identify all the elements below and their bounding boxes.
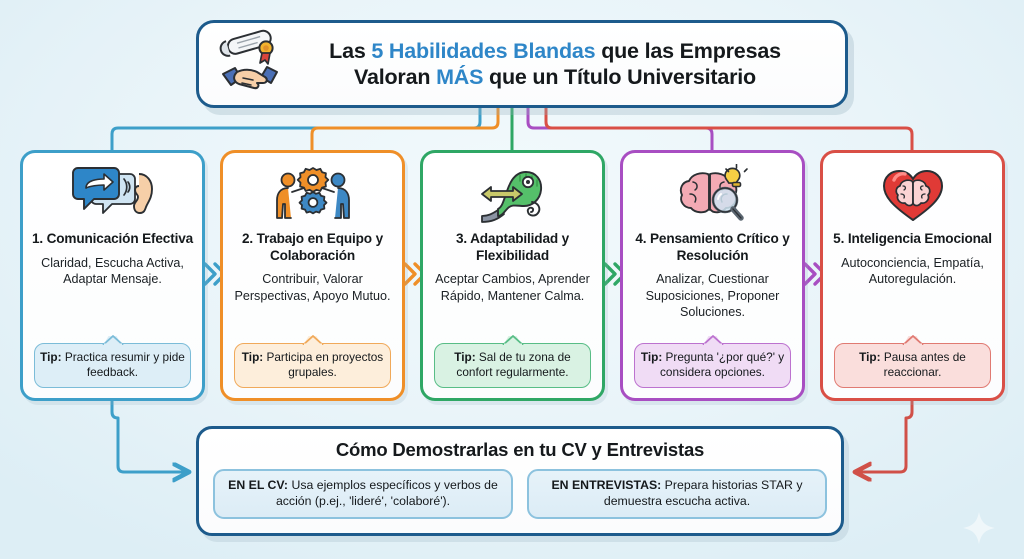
title-line1-pre: Las	[329, 39, 371, 63]
skill-card-tip: Tip: Practica resumir y pide feedback.	[34, 343, 191, 388]
title-line2-highlight: MÁS	[436, 65, 483, 89]
skill-card-description: Autoconciencia, Empatía, Autoregulación.	[830, 255, 995, 288]
tip-text: Pausa antes de reaccionar.	[881, 350, 966, 379]
footer-box-label: EN EL CV:	[228, 478, 288, 492]
tip-label: Tip:	[242, 350, 263, 364]
heart-brain-icon	[868, 164, 958, 226]
tip-notch-icon	[302, 335, 324, 345]
skill-card-title: 5. Inteligencia Emocional	[833, 231, 992, 248]
footer-box-text: Usa ejemplos específicos y verbos de acc…	[276, 478, 498, 508]
skill-card-1[interactable]: 1. Comunicación Efectiva Claridad, Escuc…	[20, 150, 205, 401]
skill-card-description: Aceptar Cambios, Aprender Rápido, Manten…	[430, 271, 595, 304]
footer-box-row: EN EL CV: Usa ejemplos específicos y ver…	[213, 469, 827, 519]
page-title: Las 5 Habilidades Blandas que las Empres…	[287, 38, 829, 90]
tip-notch-icon	[102, 335, 124, 345]
sparkle-icon	[962, 511, 996, 545]
tip-label: Tip:	[454, 350, 475, 364]
diploma-handshake-icon	[213, 28, 287, 100]
skill-card-title: 1. Comunicación Efectiva	[32, 231, 193, 248]
skill-card-3[interactable]: 3. Adaptabilidad y Flexibilidad Aceptar …	[420, 150, 605, 401]
skill-card-description: Claridad, Escucha Activa, Adaptar Mensaj…	[30, 255, 195, 288]
page-title-line2: Valoran MÁS que un Título Universitario	[287, 64, 823, 90]
title-line1-post: que las Empresas	[595, 39, 780, 63]
tip-notch-icon	[502, 335, 524, 345]
tip-text: Pregunta '¿por qué?' y considera opcione…	[660, 350, 784, 379]
header-title-card: Las 5 Habilidades Blandas que las Empres…	[196, 20, 848, 108]
speech-bubble-ear-icon	[68, 164, 158, 226]
title-line2-pre: Valoran	[354, 65, 436, 89]
skill-card-title: 2. Trabajo en Equipo y Colaboración	[230, 231, 395, 264]
page-title-line1: Las 5 Habilidades Blandas que las Empres…	[287, 38, 823, 64]
skill-card-tip: Tip: Pregunta '¿por qué?' y considera op…	[634, 343, 791, 388]
skill-card-tip: Tip: Sal de tu zona de confort regularme…	[434, 343, 591, 388]
footer-box-interviews[interactable]: EN ENTREVISTAS: Prepara historias STAR y…	[527, 469, 827, 519]
skill-card-description: Contribuir, Valorar Perspectivas, Apoyo …	[230, 271, 395, 304]
skill-card-4[interactable]: 4. Pensamiento Crítico y Resolución Anal…	[620, 150, 805, 401]
skill-card-5[interactable]: 5. Inteligencia Emocional Autoconciencia…	[820, 150, 1005, 401]
tip-label: Tip:	[40, 350, 61, 364]
skill-card-tip: Tip: Pausa antes de reaccionar.	[834, 343, 991, 388]
footer-panel: Cómo Demostrarlas en tu CV y Entrevistas…	[196, 426, 844, 536]
tip-label: Tip:	[641, 350, 662, 364]
infographic-canvas: Las 5 Habilidades Blandas que las Empres…	[0, 0, 1024, 559]
tip-text: Participa en proyectos grupales.	[263, 350, 383, 379]
footer-box-cv[interactable]: EN EL CV: Usa ejemplos específicos y ver…	[213, 469, 513, 519]
title-line2-post: que un Título Universitario	[483, 65, 756, 89]
tip-notch-icon	[702, 335, 724, 345]
footer-box-label: EN ENTREVISTAS:	[551, 478, 661, 492]
teamwork-gears-icon	[268, 164, 358, 226]
skill-card-title: 3. Adaptabilidad y Flexibilidad	[430, 231, 595, 264]
skill-card-tip: Tip: Participa en proyectos grupales.	[234, 343, 391, 388]
footer-title: Cómo Demostrarlas en tu CV y Entrevistas	[336, 439, 704, 461]
tip-notch-icon	[902, 335, 924, 345]
title-line1-highlight: 5 Habilidades Blandas	[371, 39, 595, 63]
chameleon-icon	[468, 164, 558, 226]
brain-magnifier-bulb-icon	[668, 164, 758, 226]
skill-card-2[interactable]: 2. Trabajo en Equipo y Colaboración Cont…	[220, 150, 405, 401]
tip-label: Tip:	[859, 350, 880, 364]
tip-text: Practica resumir y pide feedback.	[62, 350, 185, 379]
skill-card-title: 4. Pensamiento Crítico y Resolución	[630, 231, 795, 264]
skill-card-description: Analizar, Cuestionar Suposiciones, Propo…	[630, 271, 795, 321]
